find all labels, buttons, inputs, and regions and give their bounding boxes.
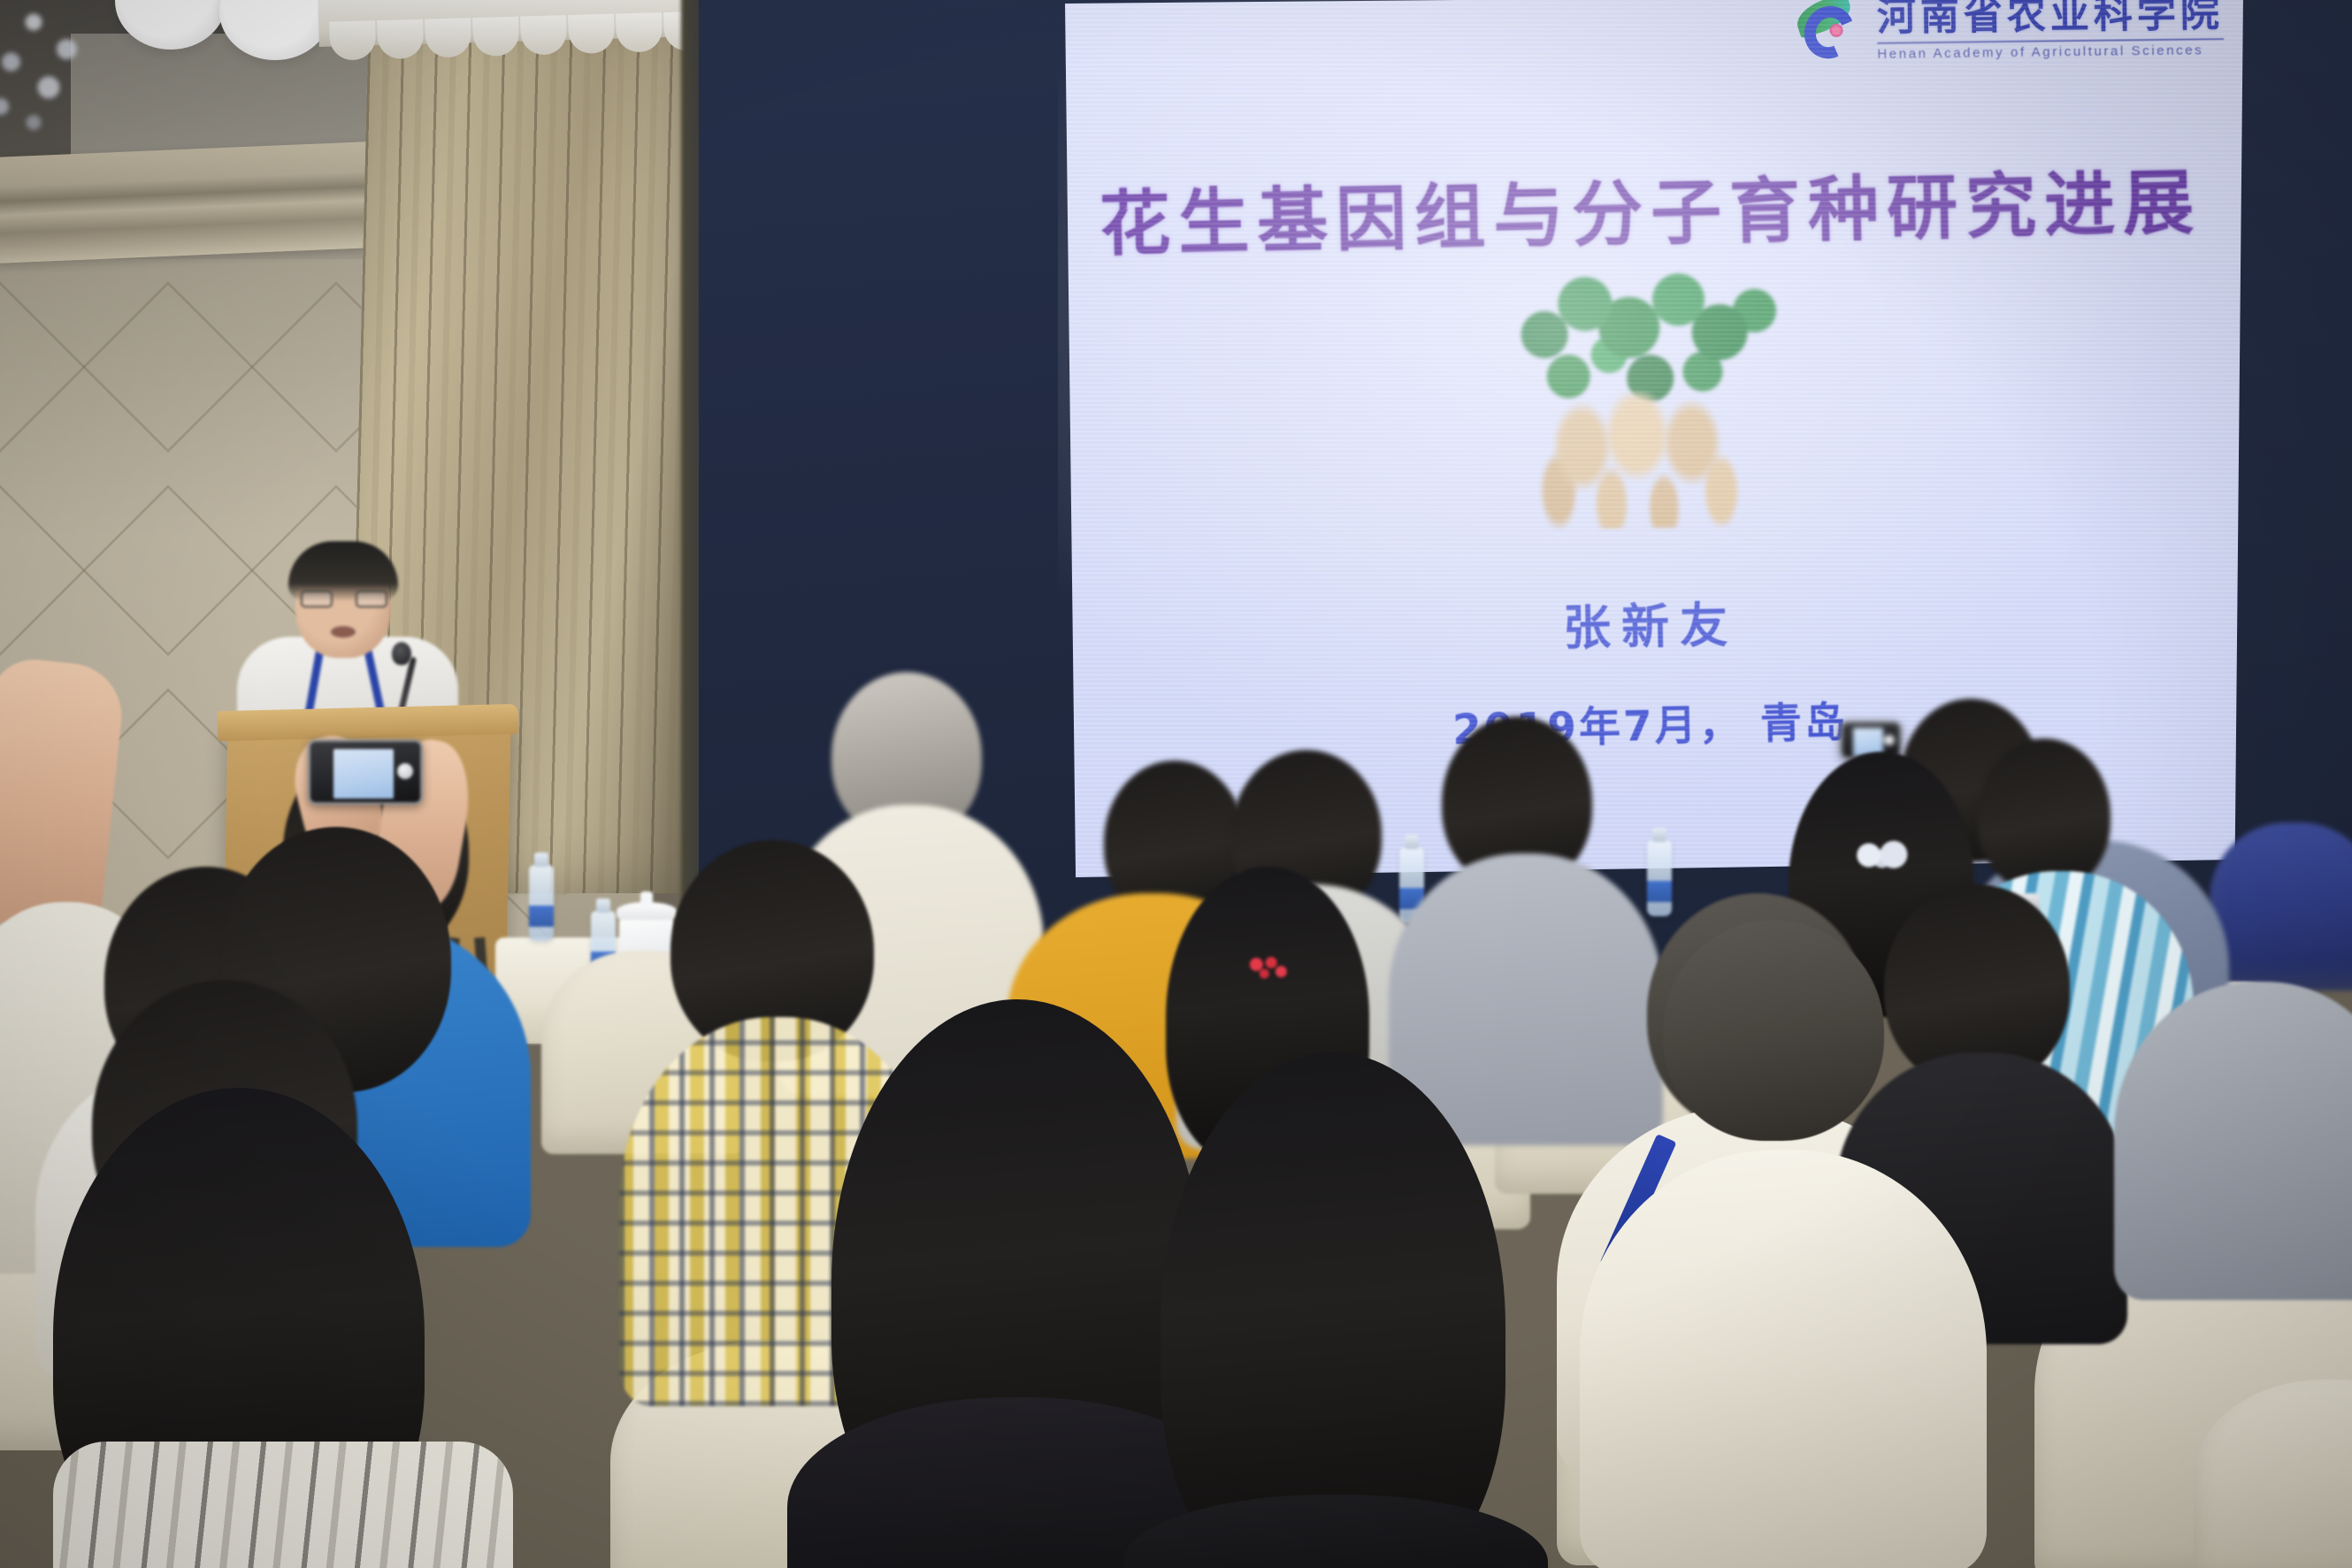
hair-clip-accessory — [1850, 838, 1916, 872]
henan-academy-logo-icon — [1794, 0, 1867, 63]
peanut-pods — [1528, 389, 1769, 530]
presenter-mouth — [331, 626, 356, 638]
microphone-head — [392, 642, 411, 665]
presenter-glasses — [301, 591, 387, 608]
person-striped-shirt-bottom-left — [53, 1442, 513, 1568]
crystal-chandelier — [0, 0, 124, 142]
logo-english-name: Henan Academy of Agricultural Sciences — [1877, 38, 2224, 61]
slide-logo: 河南省农业科学院 Henan Academy of Agricultural S… — [1794, 0, 2225, 63]
smartphone-recording — [308, 739, 423, 805]
person-white-shirt-bottom-right-head — [1663, 920, 1884, 1141]
conference-photo-scene: 河南省农业科学院 Henan Academy of Agricultural S… — [0, 0, 2352, 1568]
slide-title: 花生基因组与分子育种研究进展 — [1058, 145, 2243, 272]
red-hair-tie — [1245, 955, 1295, 982]
person-aqua-stripe-top-head — [1978, 738, 2111, 893]
peanut-plant-illustration — [1497, 265, 1792, 531]
logo-chinese-name: 河南省农业科学院 — [1877, 0, 2225, 36]
water-bottle — [529, 865, 554, 941]
person-white-shirt-bottom-right — [1580, 1150, 1987, 1568]
ceiling-cloud — [115, 0, 226, 50]
water-bottle — [1647, 840, 1672, 916]
slide-author: 张新友 — [1058, 576, 2243, 669]
chair-blue — [2210, 822, 2352, 991]
